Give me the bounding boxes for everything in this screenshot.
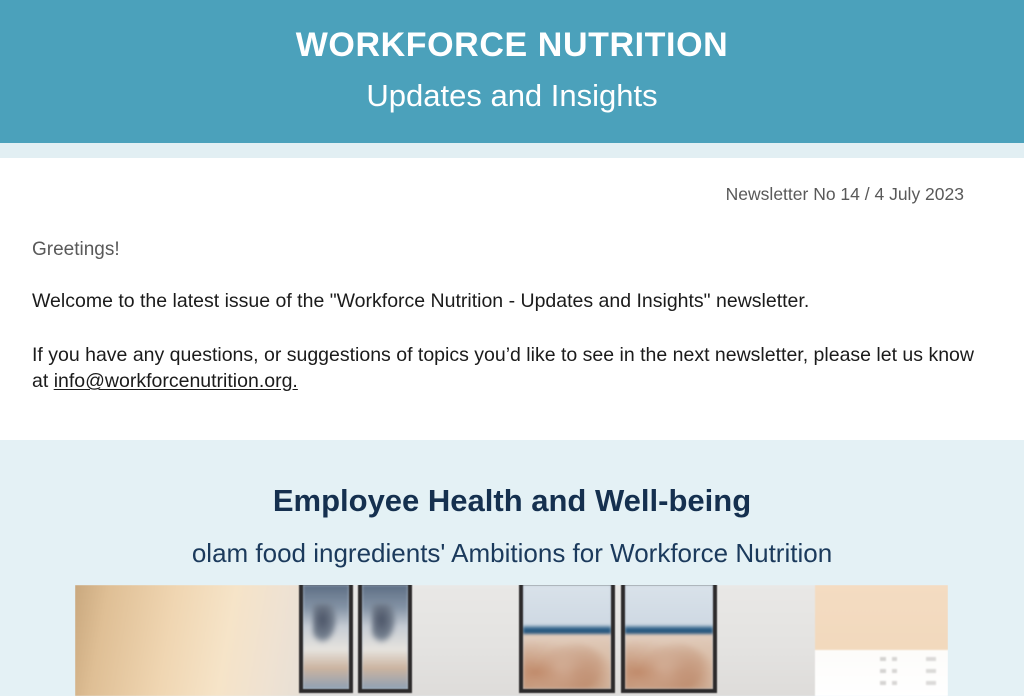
feature-section: Employee Health and Well-being olam food… [0, 440, 1024, 696]
wall-text-line-2 [880, 669, 948, 673]
wall-text-line-3 [880, 681, 948, 685]
page-title: WORKFORCE NUTRITION [0, 22, 1024, 68]
wall-text-line-1 [880, 657, 948, 661]
framed-photo-2 [358, 585, 412, 693]
greeting-text: Greetings! [32, 239, 994, 261]
feature-image [75, 585, 948, 696]
framed-photo-4-art [625, 585, 713, 689]
intro-paragraph-contact: If you have any questions, or suggestion… [32, 342, 994, 394]
newsletter-masthead: WORKFORCE NUTRITION Updates and Insights [0, 0, 1024, 143]
feature-image-scene [75, 585, 948, 696]
intro-section: Newsletter No 14 / 4 July 2023 Greetings… [0, 158, 1024, 440]
framed-photo-1-art [303, 585, 349, 689]
feature-title: Employee Health and Well-being [0, 482, 1024, 520]
issue-date-line: Newsletter No 14 / 4 July 2023 [30, 158, 994, 205]
framed-photo-1 [299, 585, 353, 693]
feature-subtitle: olam food ingredients' Ambitions for Wor… [0, 536, 1024, 570]
framed-photo-4 [621, 585, 717, 693]
framed-photo-3-art [523, 585, 611, 689]
intro-paragraph-welcome: Welcome to the latest issue of the "Work… [32, 288, 994, 314]
framed-photo-2-art [362, 585, 408, 689]
newsletter-page: WORKFORCE NUTRITION Updates and Insights… [0, 0, 1024, 696]
background-wall-text [880, 657, 948, 693]
framed-photo-3 [519, 585, 615, 693]
contact-email-link[interactable]: info@workforcenutrition.org. [54, 370, 298, 392]
masthead-subtitle: Updates and Insights [0, 74, 1024, 118]
masthead-divider-strip [0, 143, 1024, 158]
